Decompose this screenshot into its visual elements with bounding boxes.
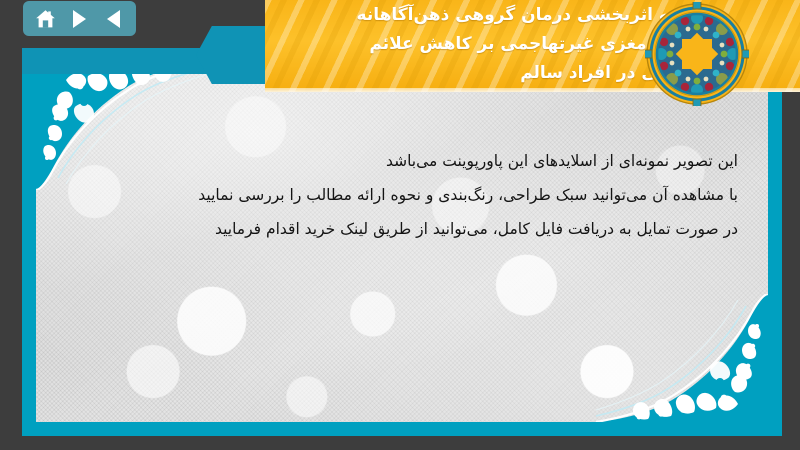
slide-stage: این تصویر نمونه‌ای از اسلایدهای این پاور… xyxy=(0,0,800,450)
previous-slide-button[interactable] xyxy=(98,5,128,33)
slide-body-text: این تصویر نمونه‌ای از اسلایدهای این پاور… xyxy=(38,144,738,246)
body-line: این تصویر نمونه‌ای از اسلایدهای این پاور… xyxy=(38,144,738,178)
title-line: و تحریک مغزی غیرتهاجمی بر کاهش علائم xyxy=(279,30,722,59)
title-line: افسردگی در افراد سالم xyxy=(279,59,722,88)
slide-title: مقایسه اثربخشی درمان گروهی ذهن‌آگاهانه و… xyxy=(265,0,800,88)
home-icon xyxy=(35,9,56,29)
triangle-right-icon xyxy=(73,10,86,28)
slide-panel: این تصویر نمونه‌ای از اسلایدهای این پاور… xyxy=(22,48,782,436)
title-band: مقایسه اثربخشی درمان گروهی ذهن‌آگاهانه و… xyxy=(265,0,800,92)
home-button[interactable] xyxy=(31,5,61,33)
body-line: در صورت تمایل به دریافت فایل کامل، می‌تو… xyxy=(38,212,738,246)
triangle-left-icon xyxy=(107,10,120,28)
slide-content-area: این تصویر نمونه‌ای از اسلایدهای این پاور… xyxy=(36,62,768,422)
body-line: با مشاهده آن می‌توانید سبک طراحی، رنگ‌بن… xyxy=(38,178,738,212)
next-slide-button[interactable] xyxy=(65,5,95,33)
arabesque-flourish-icon xyxy=(596,294,768,422)
title-line: مقایسه اثربخشی درمان گروهی ذهن‌آگاهانه xyxy=(279,1,722,30)
navigation-bar[interactable] xyxy=(23,1,136,36)
